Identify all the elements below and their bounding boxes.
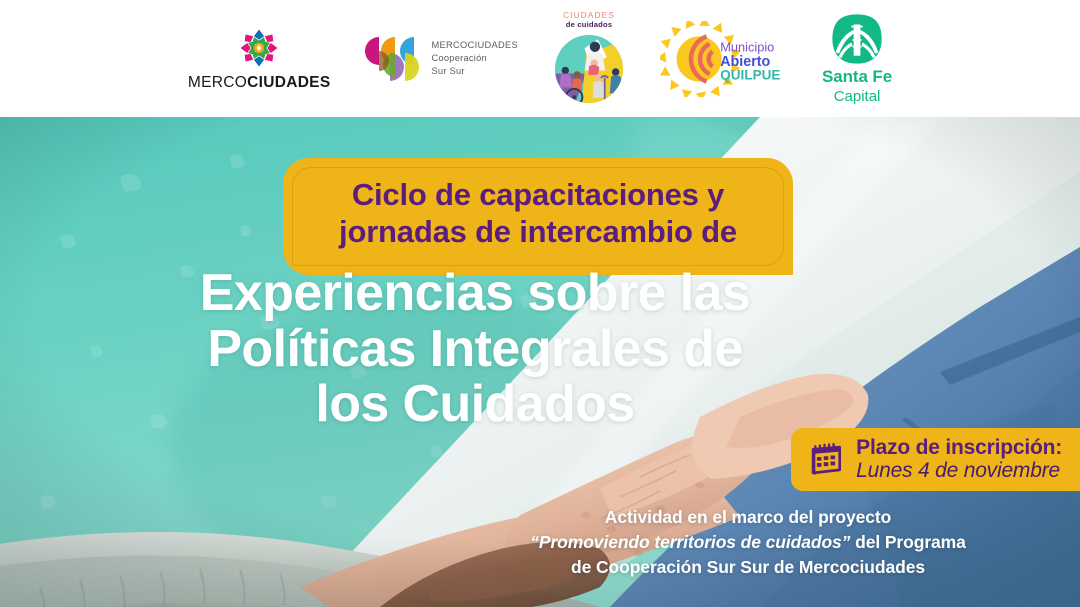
headline-line-2: Políticas Integrales de xyxy=(60,322,890,378)
calendar-icon xyxy=(807,441,845,479)
deadline-date: Lunes 4 de noviembre xyxy=(856,460,1062,483)
kicker-text: Ciclo de capacitaciones y jornadas de in… xyxy=(283,158,793,250)
quilpue-line-3: QUILPUE xyxy=(720,67,780,82)
css-line-3: Sur Sur xyxy=(431,65,518,78)
cooperacion-sur-sur-wordmark: MERCOCIUDADES Cooperación Sur Sur xyxy=(431,39,518,79)
css-line-2: Cooperación xyxy=(431,52,518,65)
registration-deadline-badge: Plazo de inscripción: Lunes 4 de noviemb… xyxy=(791,428,1080,491)
santa-fe-bridge-icon xyxy=(829,13,885,65)
santa-fe-line-1: Santa Fe xyxy=(822,68,892,85)
logo-mercociudades: MERCOCIUDADES xyxy=(188,27,331,91)
kicker-line-2: jornadas de intercambio de xyxy=(339,214,737,249)
footnote-line-3: de Cooperación Sur Sur de Mercociudades xyxy=(438,555,1058,580)
page-title: Experiencias sobre las Políticas Integra… xyxy=(60,266,890,433)
santa-fe-line-2: Capital xyxy=(834,89,881,104)
project-footnote: Actividad en el marco del proyecto “Prom… xyxy=(438,505,1058,580)
mercociudades-word-bold: CIUDADES xyxy=(247,74,330,91)
ciudades-de-cuidados-illustration-icon xyxy=(552,32,626,106)
footnote-line-2: “Promoviendo territorios de cuidados” de… xyxy=(438,530,1058,555)
quilpue-sun-icon: Municipio Abierto QUILPUE xyxy=(660,21,788,97)
logo-ciudades-de-cuidados: CIUDADES de cuidados xyxy=(552,11,626,106)
promotional-poster: MERCOCIUDADES MERCOCIUDADES Cooperación xyxy=(0,0,1080,607)
cdc-line-2: de cuidados xyxy=(566,21,613,29)
kicker-banner: Ciclo de capacitaciones y jornadas de in… xyxy=(283,158,793,275)
footnote-line-2-rest: del Programa xyxy=(850,532,965,552)
mercociudades-mosaic-icon xyxy=(238,27,280,69)
logo-municipio-abierto-quilpue: Municipio Abierto QUILPUE xyxy=(660,21,788,97)
sponsor-logo-band: MERCOCIUDADES MERCOCIUDADES Cooperación xyxy=(0,0,1080,117)
footnote-line-1: Actividad en el marco del proyecto xyxy=(438,505,1058,530)
cooperacion-sur-sur-arcs-icon xyxy=(364,33,422,85)
logo-cooperacion-sur-sur: MERCOCIUDADES Cooperación Sur Sur xyxy=(364,33,518,85)
css-line-1: MERCOCIUDADES xyxy=(431,39,518,52)
kicker-line-1: Ciclo de capacitaciones y xyxy=(352,177,724,212)
logo-santa-fe-capital: Santa Fe Capital xyxy=(822,13,892,104)
mercociudades-wordmark: MERCOCIUDADES xyxy=(188,75,331,91)
headline-line-3: los Cuidados xyxy=(60,377,890,433)
cdc-line-1: CIUDADES xyxy=(563,11,615,20)
deadline-label: Plazo de inscripción: xyxy=(856,437,1062,460)
footnote-project-name: “Promoviendo territorios de cuidados” xyxy=(530,532,850,552)
quilpue-line-1: Municipio xyxy=(720,39,774,54)
mercociudades-word-light: MERCO xyxy=(188,74,247,91)
headline-line-1: Experiencias sobre las xyxy=(60,266,890,322)
